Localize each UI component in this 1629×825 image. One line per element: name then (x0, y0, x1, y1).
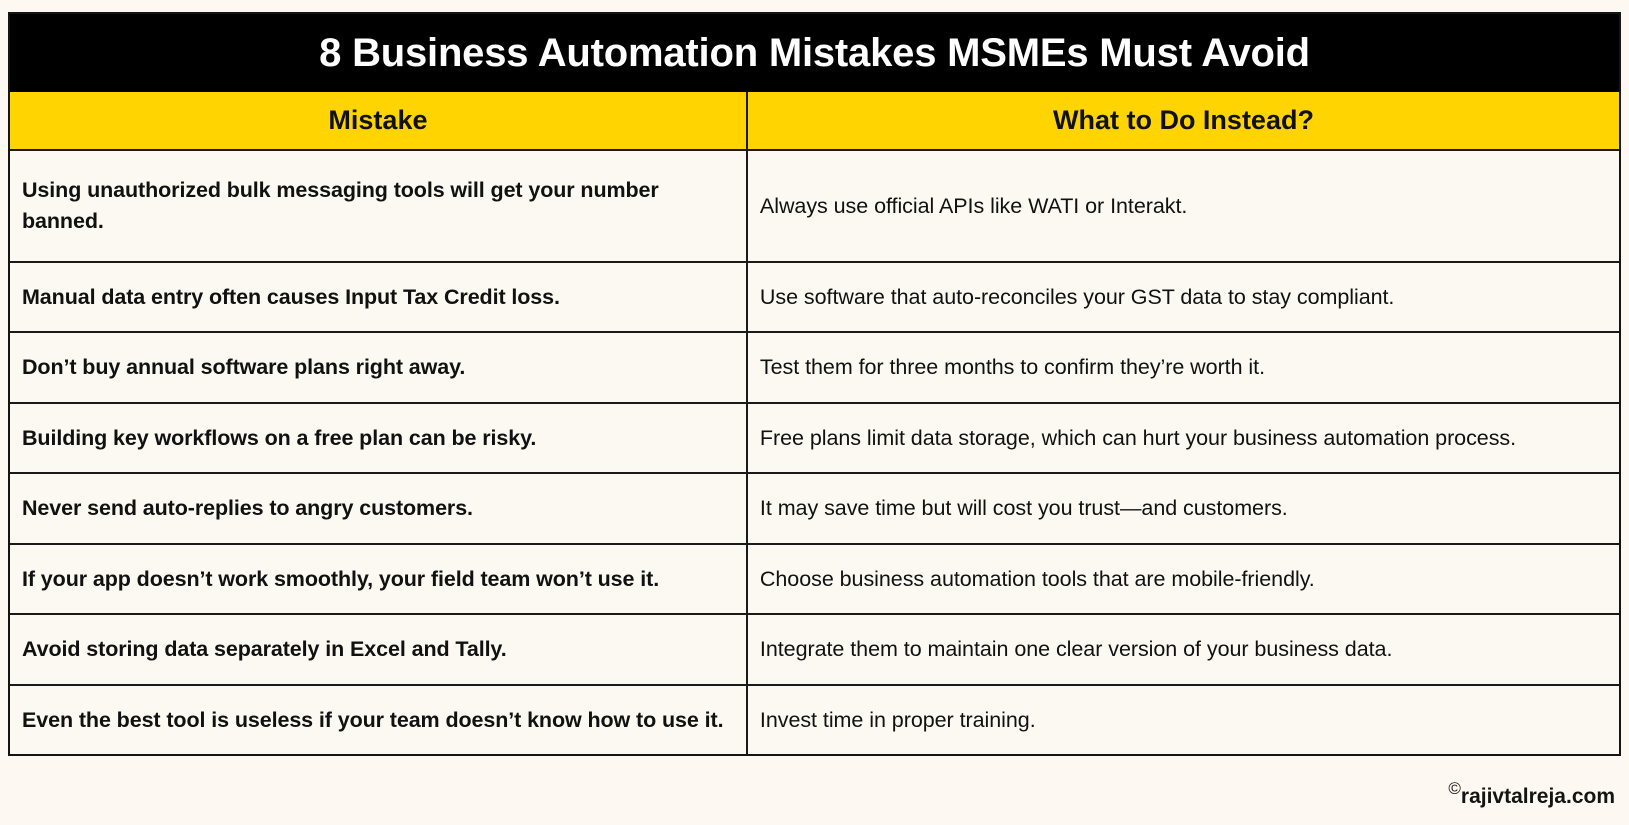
cell-mistake: Avoid storing data separately in Excel a… (10, 614, 747, 685)
cell-fix: Test them for three months to confirm th… (747, 332, 1619, 403)
table-row: If your app doesn’t work smoothly, your … (10, 544, 1619, 615)
cell-fix: Invest time in proper training. (747, 685, 1619, 754)
column-header-what-to-do-instead: What to Do Instead? (747, 92, 1619, 150)
mistakes-infographic-card: 8 Business Automation Mistakes MSMEs Mus… (8, 12, 1621, 756)
cell-fix: Always use official APIs like WATI or In… (747, 150, 1619, 262)
cell-fix: Choose business automation tools that ar… (747, 544, 1619, 615)
cell-mistake: Never send auto-replies to angry custome… (10, 473, 747, 544)
table-row: Don’t buy annual software plans right aw… (10, 332, 1619, 403)
cell-fix: Use software that auto-reconciles your G… (747, 262, 1619, 333)
table-header-row: Mistake What to Do Instead? (10, 92, 1619, 150)
table-body: Using unauthorized bulk messaging tools … (10, 150, 1619, 754)
infographic-page: 8 Business Automation Mistakes MSMEs Mus… (0, 0, 1629, 825)
cell-mistake: Don’t buy annual software plans right aw… (10, 332, 747, 403)
cell-fix: It may save time but will cost you trust… (747, 473, 1619, 544)
footer-domain-text: rajivtalreja.com (1461, 786, 1615, 807)
cell-mistake: Even the best tool is useless if your te… (10, 685, 747, 754)
cell-mistake: Building key workflows on a free plan ca… (10, 403, 747, 474)
column-header-mistake: Mistake (10, 92, 747, 150)
table-head: Mistake What to Do Instead? (10, 92, 1619, 150)
mistakes-table: Mistake What to Do Instead? Using unauth… (10, 92, 1619, 754)
copyright-icon: © (1448, 780, 1461, 797)
page-title: 8 Business Automation Mistakes MSMEs Mus… (319, 32, 1310, 74)
table-row: Manual data entry often causes Input Tax… (10, 262, 1619, 333)
cell-fix: Free plans limit data storage, which can… (747, 403, 1619, 474)
table-row: Using unauthorized bulk messaging tools … (10, 150, 1619, 262)
cell-mistake: If your app doesn’t work smoothly, your … (10, 544, 747, 615)
cell-mistake: Manual data entry often causes Input Tax… (10, 262, 747, 333)
cell-fix: Integrate them to maintain one clear ver… (747, 614, 1619, 685)
table-row: Never send auto-replies to angry custome… (10, 473, 1619, 544)
footer-attribution: © rajivtalreja.com (1448, 779, 1615, 807)
title-bar: 8 Business Automation Mistakes MSMEs Mus… (10, 14, 1619, 92)
table-row: Avoid storing data separately in Excel a… (10, 614, 1619, 685)
cell-mistake: Using unauthorized bulk messaging tools … (10, 150, 747, 262)
table-row: Even the best tool is useless if your te… (10, 685, 1619, 754)
table-row: Building key workflows on a free plan ca… (10, 403, 1619, 474)
